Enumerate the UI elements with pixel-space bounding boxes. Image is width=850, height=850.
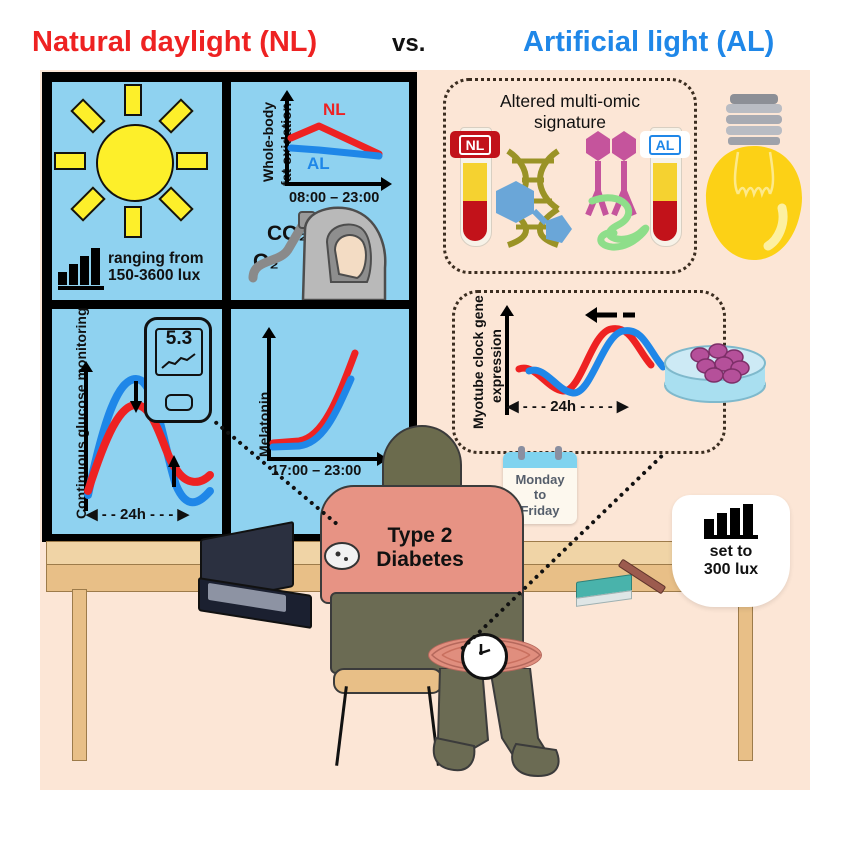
sun-ray-icon <box>54 152 86 170</box>
sun-ray-icon <box>124 206 142 238</box>
panel-glucose: Continuous glucose monitoring 5.3 <box>52 309 222 534</box>
desk-lamp: set to 300 lux <box>672 495 790 607</box>
respiratory-chamber-icon <box>231 82 409 300</box>
sun-ray-icon <box>176 152 208 170</box>
sun-ray-icon <box>70 186 105 221</box>
lux-caption-line-1: ranging from <box>108 250 220 267</box>
cgm-sensor-icon <box>322 536 362 576</box>
calendar-ring-icon <box>555 446 562 460</box>
calendar-line-1: Monday <box>503 472 577 487</box>
left-arrow-icon <box>585 307 597 323</box>
desk-leg <box>72 589 87 761</box>
petri-dish-icon <box>660 333 770 413</box>
lamp-line-1: set to <box>672 543 790 561</box>
light-bulb-icon <box>700 90 808 275</box>
sun-icon <box>96 124 174 202</box>
sun-ray-icon <box>158 98 193 133</box>
header-artificial-light: Artificial light (AL) <box>523 26 774 59</box>
lamp-line-2: 300 lux <box>672 561 790 579</box>
lamp-setting-text: set to 300 lux <box>672 543 790 580</box>
sun-ray-icon <box>158 186 193 221</box>
stool-seat <box>333 668 443 694</box>
omic-icons-group <box>446 81 694 271</box>
bar-chart-icon <box>704 505 758 539</box>
person-legs <box>430 668 570 793</box>
graphical-abstract: Natural daylight (NL) vs. Artificial lig… <box>0 0 850 850</box>
panel-sun: ranging from 150-3600 lux <box>52 82 222 300</box>
sun-ray-icon <box>124 84 142 116</box>
header-vs: vs. <box>392 30 425 58</box>
header: Natural daylight (NL) vs. Artificial lig… <box>0 26 850 70</box>
myotube-24h-label: ◀ - - - 24h - - - - ▶ <box>507 397 628 415</box>
glucose-24h-label: ◀ - - 24h - - - ▶ <box>86 505 189 523</box>
sun-ray-icon <box>70 98 105 133</box>
glucose-meter-icon: 5.3 <box>144 317 212 423</box>
lux-range-caption: ranging from 150-3600 lux <box>108 250 220 285</box>
glucose-meter-screen: 5.3 <box>155 328 203 376</box>
lux-caption-line-2: 150-3600 lux <box>108 267 220 284</box>
metabolite-icon <box>496 181 572 243</box>
natural-daylight-panel-board: ranging from 150-3600 lux Whole-body fat… <box>42 72 417 542</box>
glucose-meter-button[interactable] <box>165 394 193 411</box>
multi-omic-box: Altered multi-omic signature NL AL <box>443 78 697 274</box>
bar-chart-icon <box>58 250 106 290</box>
panel-fat-oxidation: Whole-body fat oxidation NL AL 08:00 – 2… <box>231 82 409 300</box>
meter-trace-icon <box>157 330 201 374</box>
calendar-ring-icon <box>518 446 525 460</box>
desk-leg <box>738 589 753 761</box>
header-natural-daylight: Natural daylight (NL) <box>32 26 317 59</box>
